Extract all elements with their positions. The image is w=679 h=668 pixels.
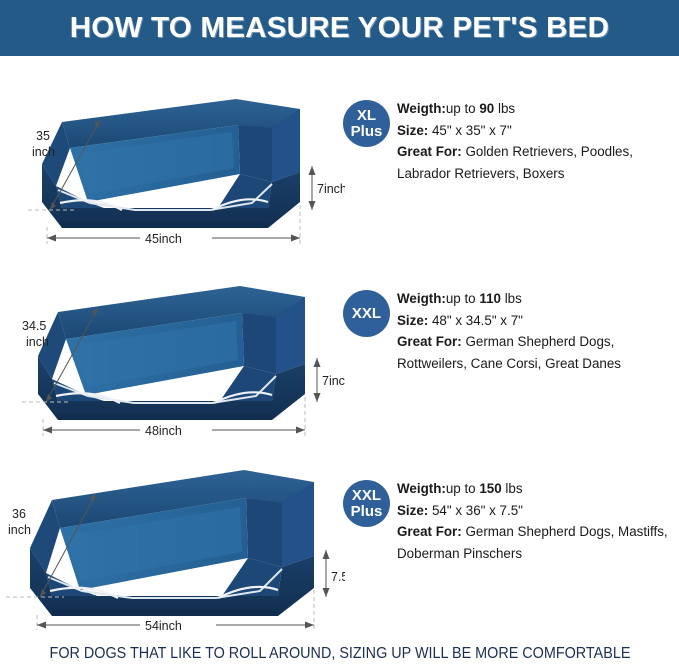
great-for-line: Great For: German Shepherd Dogs, Rottwei… [397, 331, 679, 374]
badge-line-1: XXL [352, 306, 381, 321]
weight-line: Weigth:up to 110 lbs [397, 288, 679, 310]
dim-depth-value: 36 [12, 507, 26, 521]
weight-unit: lbs [494, 101, 515, 116]
size-row-xxl-plus: 36 inch 54inch 7.5inch XXL Plus Weigth:u… [0, 442, 679, 632]
info-pane-xxl-plus: XXL Plus Weigth:up to 150 lbs Size: 54" … [340, 442, 679, 632]
weight-label: Weigth: [397, 291, 446, 306]
size-row-xl-plus: 35 inch 45inch 7inch XL Plus Weigth:up t… [0, 62, 679, 252]
size-row-xxl: 34.5 inch 48inch 7inch XXL Weigth:up to … [0, 252, 679, 442]
weight-number: 150 [479, 481, 501, 496]
badge-line-1: XXL [352, 488, 381, 503]
size-label: Size: [397, 313, 428, 328]
size-label: Size: [397, 503, 428, 518]
bed-diagram-svg: 36 inch 54inch 7.5inch [0, 442, 345, 632]
size-line: Size: 54" x 36" x 7.5" [397, 500, 679, 522]
dim-depth-value: 35 [36, 129, 50, 143]
weight-prefix: up to [446, 291, 480, 306]
weight-label: Weigth: [397, 481, 446, 496]
great-for-label: Great For: [397, 524, 462, 539]
bed-illustration-xxl: 34.5 inch 48inch 7inch [0, 252, 345, 442]
footer-note: FOR DOGS THAT LIKE TO ROLL AROUND, SIZIN… [49, 645, 630, 663]
badge-line-1: XL [357, 108, 376, 123]
spec-list-xxl: Weigth:up to 110 lbs Size: 48" x 34.5" x… [397, 288, 679, 375]
size-line: Size: 48" x 34.5" x 7" [397, 310, 679, 332]
dim-depth-unit: inch [26, 335, 49, 349]
bed-illustration-xxl-plus: 36 inch 54inch 7.5inch [0, 442, 345, 632]
header-banner: HOW TO MEASURE YOUR PET'S BED [0, 0, 679, 56]
weight-prefix: up to [446, 101, 480, 116]
size-value: 45" x 35" x 7" [428, 123, 512, 138]
badge-line-2: Plus [351, 124, 383, 139]
footer-banner: FOR DOGS THAT LIKE TO ROLL AROUND, SIZIN… [0, 640, 679, 668]
weight-number: 90 [479, 101, 494, 116]
size-value: 54" x 36" x 7.5" [428, 503, 523, 518]
dim-depth-unit: inch [32, 145, 55, 159]
dim-width-value: 54inch [145, 619, 182, 632]
weight-unit: lbs [501, 291, 522, 306]
dim-depth-unit: inch [8, 523, 31, 537]
size-badge-xl-plus: XL Plus [343, 100, 390, 147]
weight-label: Weigth: [397, 101, 446, 116]
size-line: Size: 45" x 35" x 7" [397, 120, 679, 142]
weight-number: 110 [479, 291, 501, 306]
dim-depth-value: 34.5 [22, 319, 46, 333]
spec-list-xxl-plus: Weigth:up to 150 lbs Size: 54" x 36" x 7… [397, 478, 679, 565]
bed-diagram-svg: 34.5 inch 48inch 7inch [0, 252, 345, 442]
size-label: Size: [397, 123, 428, 138]
size-value: 48" x 34.5" x 7" [428, 313, 523, 328]
page-title: HOW TO MEASURE YOUR PET'S BED [70, 12, 609, 45]
info-pane-xl-plus: XL Plus Weigth:up to 90 lbs Size: 45" x … [340, 62, 679, 252]
spec-list-xl-plus: Weigth:up to 90 lbs Size: 45" x 35" x 7"… [397, 98, 679, 185]
great-for-line: Great For: Golden Retrievers, Poodles, L… [397, 141, 679, 184]
weight-prefix: up to [446, 481, 480, 496]
size-badge-xxl-plus: XXL Plus [343, 480, 390, 527]
great-for-line: Great For: German Shepherd Dogs, Mastiff… [397, 521, 679, 564]
weight-unit: lbs [502, 481, 523, 496]
dim-width-value: 45inch [145, 232, 182, 246]
badge-line-2: Plus [351, 504, 383, 519]
great-for-label: Great For: [397, 144, 462, 159]
info-pane-xxl: XXL Weigth:up to 110 lbs Size: 48" x 34.… [340, 252, 679, 442]
weight-line: Weigth:up to 150 lbs [397, 478, 679, 500]
great-for-label: Great For: [397, 334, 462, 349]
bed-diagram-svg: 35 inch 45inch 7inch [0, 62, 345, 252]
weight-line: Weigth:up to 90 lbs [397, 98, 679, 120]
size-badge-xxl: XXL [343, 290, 390, 337]
dim-width-value: 48inch [145, 424, 182, 438]
bed-illustration-xl-plus: 35 inch 45inch 7inch [0, 62, 345, 252]
